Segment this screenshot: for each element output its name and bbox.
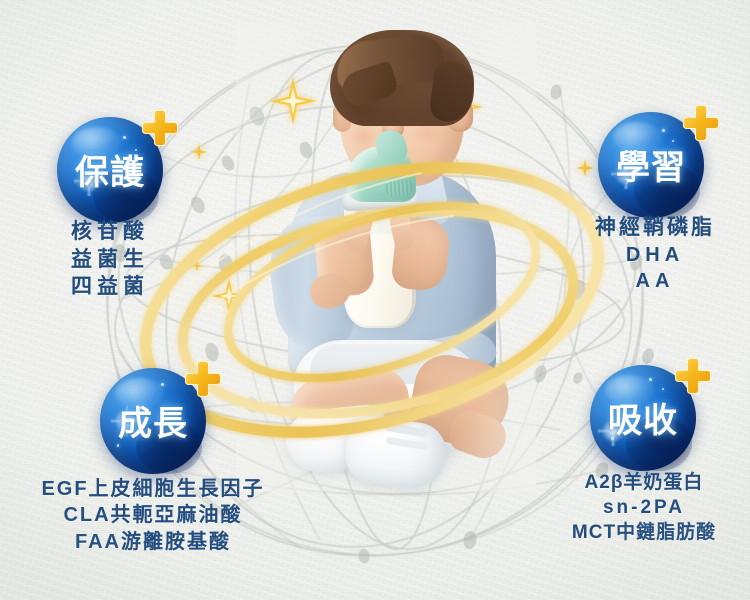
bullets-absorb: A2β羊奶蛋白 sn-2PA MCT中鏈脂肪酸 bbox=[538, 470, 750, 545]
bullet-item: sn-2PA bbox=[538, 495, 750, 520]
badge-protect[interactable]: 保護 bbox=[57, 117, 163, 223]
bullet-item: MCT中鏈脂肪酸 bbox=[538, 520, 750, 545]
badge-growth[interactable]: 成長 bbox=[100, 368, 206, 474]
child-photo bbox=[236, 22, 536, 492]
bottle-cap-vent bbox=[385, 179, 412, 197]
bullets-protect: 核苷酸 益菌生 四益菌 bbox=[30, 218, 190, 301]
bullet-item: A2β羊奶蛋白 bbox=[538, 470, 750, 495]
bullet-item: FAA游離胺基酸 bbox=[8, 529, 298, 555]
plus-icon bbox=[668, 353, 714, 399]
bullet-item: DHA bbox=[570, 242, 740, 268]
child-cheek bbox=[350, 126, 378, 148]
plus-icon bbox=[676, 100, 722, 146]
poster-canvas: 保護 學習 bbox=[0, 0, 750, 600]
bullet-item: 神經鞘磷脂 bbox=[570, 214, 740, 242]
bullet-item: 益菌生 bbox=[30, 246, 190, 274]
bullet-item: EGF上皮細胞生長因子 bbox=[8, 476, 298, 502]
bullet-item: 四益菌 bbox=[30, 273, 190, 301]
plus-icon bbox=[178, 356, 224, 402]
bullet-item: CLA共軛亞麻油酸 bbox=[8, 502, 298, 528]
bullets-growth: EGF上皮細胞生長因子 CLA共軛亞麻油酸 FAA游離胺基酸 bbox=[8, 476, 298, 555]
badge-absorb[interactable]: 吸收 bbox=[590, 365, 696, 471]
plus-icon bbox=[135, 105, 181, 151]
bullets-learn: 神經鞘磷脂 DHA AA bbox=[570, 214, 740, 295]
bullet-item: 核苷酸 bbox=[30, 218, 190, 246]
badge-learn[interactable]: 學習 bbox=[598, 112, 704, 218]
bullet-item: AA bbox=[570, 268, 740, 294]
